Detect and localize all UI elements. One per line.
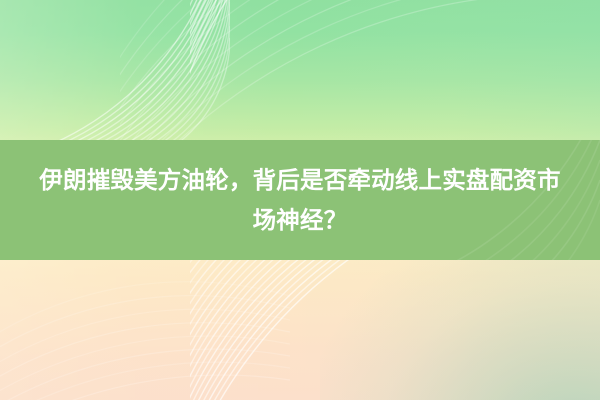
title-line-2: 场神经？ <box>253 207 348 233</box>
title-band: 伊朗摧毁美方油轮，背后是否牵动线上实盘配资市 场神经？ <box>0 140 600 260</box>
cover-image: 伊朗摧毁美方油轮，背后是否牵动线上实盘配资市 场神经？ <box>0 0 600 400</box>
page-title: 伊朗摧毁美方油轮，背后是否牵动线上实盘配资市 场神经？ <box>8 160 592 240</box>
title-line-1: 伊朗摧毁美方油轮，背后是否牵动线上实盘配资市 <box>39 167 560 193</box>
